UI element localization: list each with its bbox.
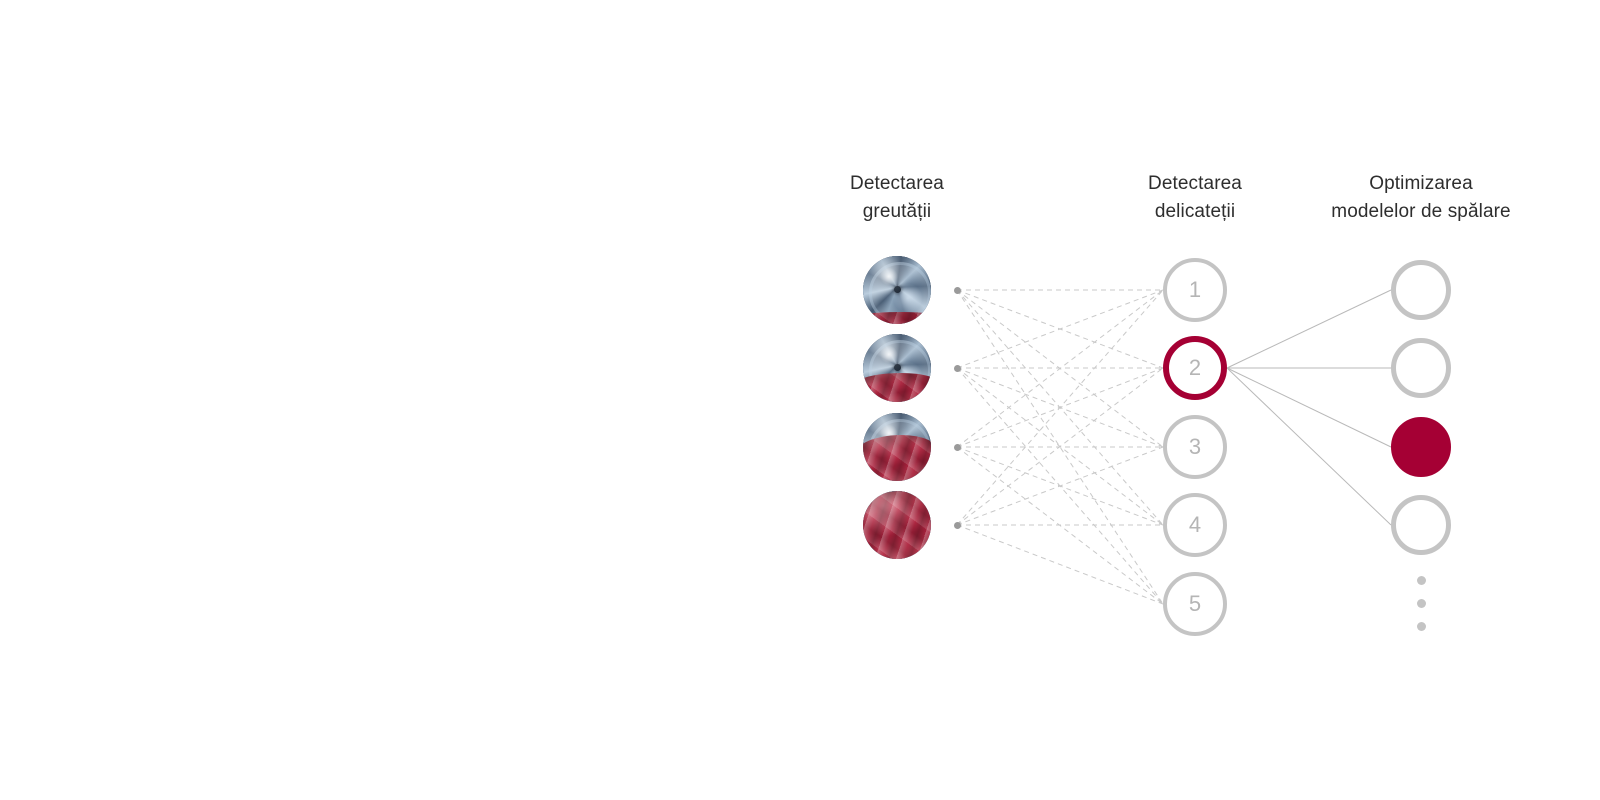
edge-input-4-hidden-2 <box>957 368 1163 525</box>
edge-input-2-hidden-1 <box>957 290 1163 368</box>
optimization-node-4[interactable] <box>1391 495 1451 555</box>
edge-input-1-hidden-5 <box>957 290 1163 604</box>
column-header-weight-detection: Detectarea greutății <box>790 170 1004 226</box>
optimization-node-2[interactable] <box>1391 338 1451 398</box>
thumbnail-glare <box>863 413 931 481</box>
edge-input-1-hidden-3 <box>957 290 1163 447</box>
edge-input-4-hidden-1 <box>957 290 1163 525</box>
delicacy-node-2-selected[interactable]: 2 <box>1163 336 1227 400</box>
edge-input-2-hidden-5 <box>957 368 1163 604</box>
edges-input-to-hidden <box>957 290 1163 604</box>
edge-input-3-hidden-2 <box>957 368 1163 447</box>
delicacy-node-5[interactable]: 5 <box>1163 572 1227 636</box>
edges-hidden-to-output <box>1227 290 1391 525</box>
edge-input-2-hidden-3 <box>957 368 1163 447</box>
optimization-node-1[interactable] <box>1391 260 1451 320</box>
edge-input-1-hidden-4 <box>957 290 1163 525</box>
input-connector-dot-1 <box>954 287 961 294</box>
edge-input-2-hidden-4 <box>957 368 1163 525</box>
load-thumbnail-load-3 <box>863 413 931 481</box>
thumbnail-glare <box>863 334 931 402</box>
delicacy-node-3[interactable]: 3 <box>1163 415 1227 479</box>
edge-input-4-hidden-3 <box>957 447 1163 525</box>
edge-hidden-2-output-3 <box>1227 368 1391 447</box>
input-connector-dot-3 <box>954 444 961 451</box>
neural-network-diagram: Detectarea greutății Detectarea delicate… <box>0 0 1600 800</box>
thumbnail-glare <box>863 491 931 559</box>
column-header-delicacy-detection: Detectarea delicateții <box>1088 170 1302 226</box>
load-thumbnail-load-1 <box>863 256 931 324</box>
ellipsis-dot-3 <box>1417 622 1426 631</box>
delicacy-node-4[interactable]: 4 <box>1163 493 1227 557</box>
load-thumbnail-load-2 <box>863 334 931 402</box>
edge-layer <box>0 0 1600 800</box>
edge-input-1-hidden-2 <box>957 290 1163 368</box>
delicacy-node-1[interactable]: 1 <box>1163 258 1227 322</box>
load-thumbnail-load-4 <box>863 491 931 559</box>
input-connector-dot-2 <box>954 365 961 372</box>
edge-input-4-hidden-5 <box>957 525 1163 604</box>
column-header-wash-optimization: Optimizarea modelelor de spălare <box>1300 170 1542 226</box>
thumbnail-glare <box>863 256 931 324</box>
input-connector-dot-4 <box>954 522 961 529</box>
edge-input-3-hidden-1 <box>957 290 1163 447</box>
edge-hidden-2-output-1 <box>1227 290 1391 368</box>
edge-hidden-2-output-4 <box>1227 368 1391 525</box>
ellipsis-dot-1 <box>1417 576 1426 585</box>
optimization-node-3-selected[interactable] <box>1391 417 1451 477</box>
edge-input-3-hidden-4 <box>957 447 1163 525</box>
edge-input-3-hidden-5 <box>957 447 1163 604</box>
ellipsis-dot-2 <box>1417 599 1426 608</box>
